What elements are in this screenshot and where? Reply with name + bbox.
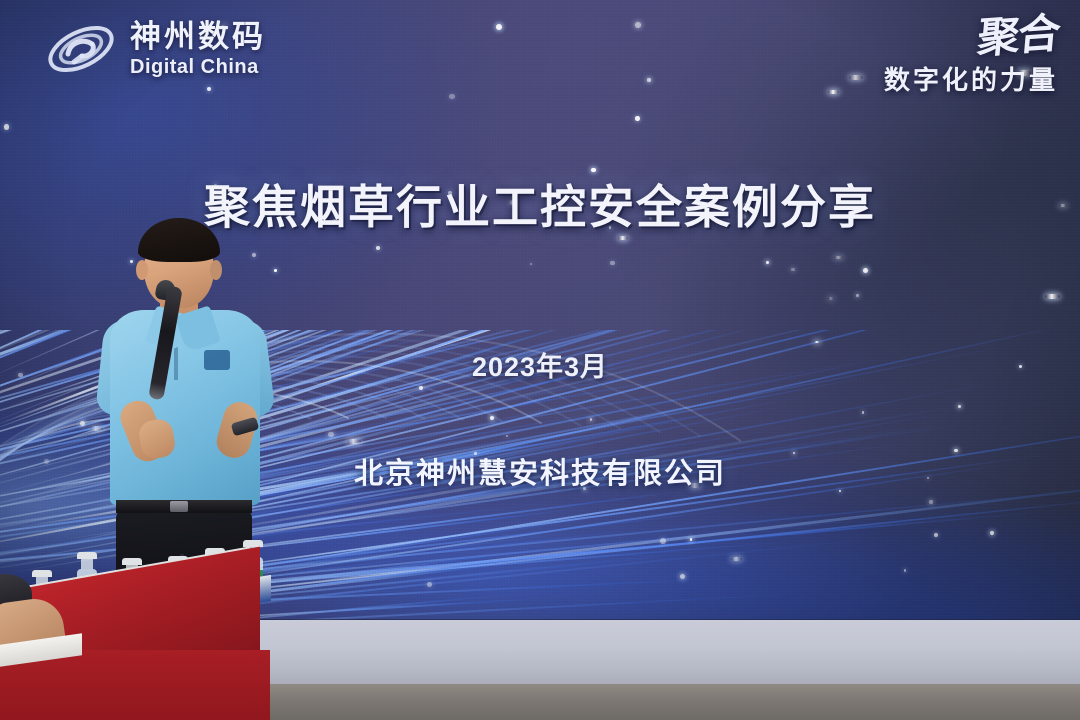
bottle-neck (81, 559, 93, 569)
speaker-ear-right (210, 260, 222, 280)
spiral-galaxy-logo-icon (44, 18, 118, 80)
brand-name-cn: 神州数码 (130, 21, 266, 52)
brand-text: 神州数码 Digital China (130, 21, 266, 77)
bottle-cap (122, 558, 142, 565)
bottle-cap (32, 570, 52, 577)
conference-stage-photo: 神州数码 Digital China 聚合 数字化的力量 聚焦烟草行业工控安全案… (0, 0, 1080, 720)
brand-name-en: Digital China (130, 57, 266, 77)
speaker-hair (138, 218, 220, 262)
belt-buckle (170, 501, 188, 512)
slogan-brush-text: 聚合 (976, 13, 1060, 58)
bottle-cap (77, 552, 97, 559)
brand-logo: 神州数码 Digital China (44, 18, 266, 80)
speaker-ear-left (136, 260, 148, 280)
company-logo-patch (204, 350, 230, 370)
event-slogan: 聚合 数字化的力量 (884, 16, 1058, 97)
slogan-subtitle: 数字化的力量 (884, 60, 1058, 97)
